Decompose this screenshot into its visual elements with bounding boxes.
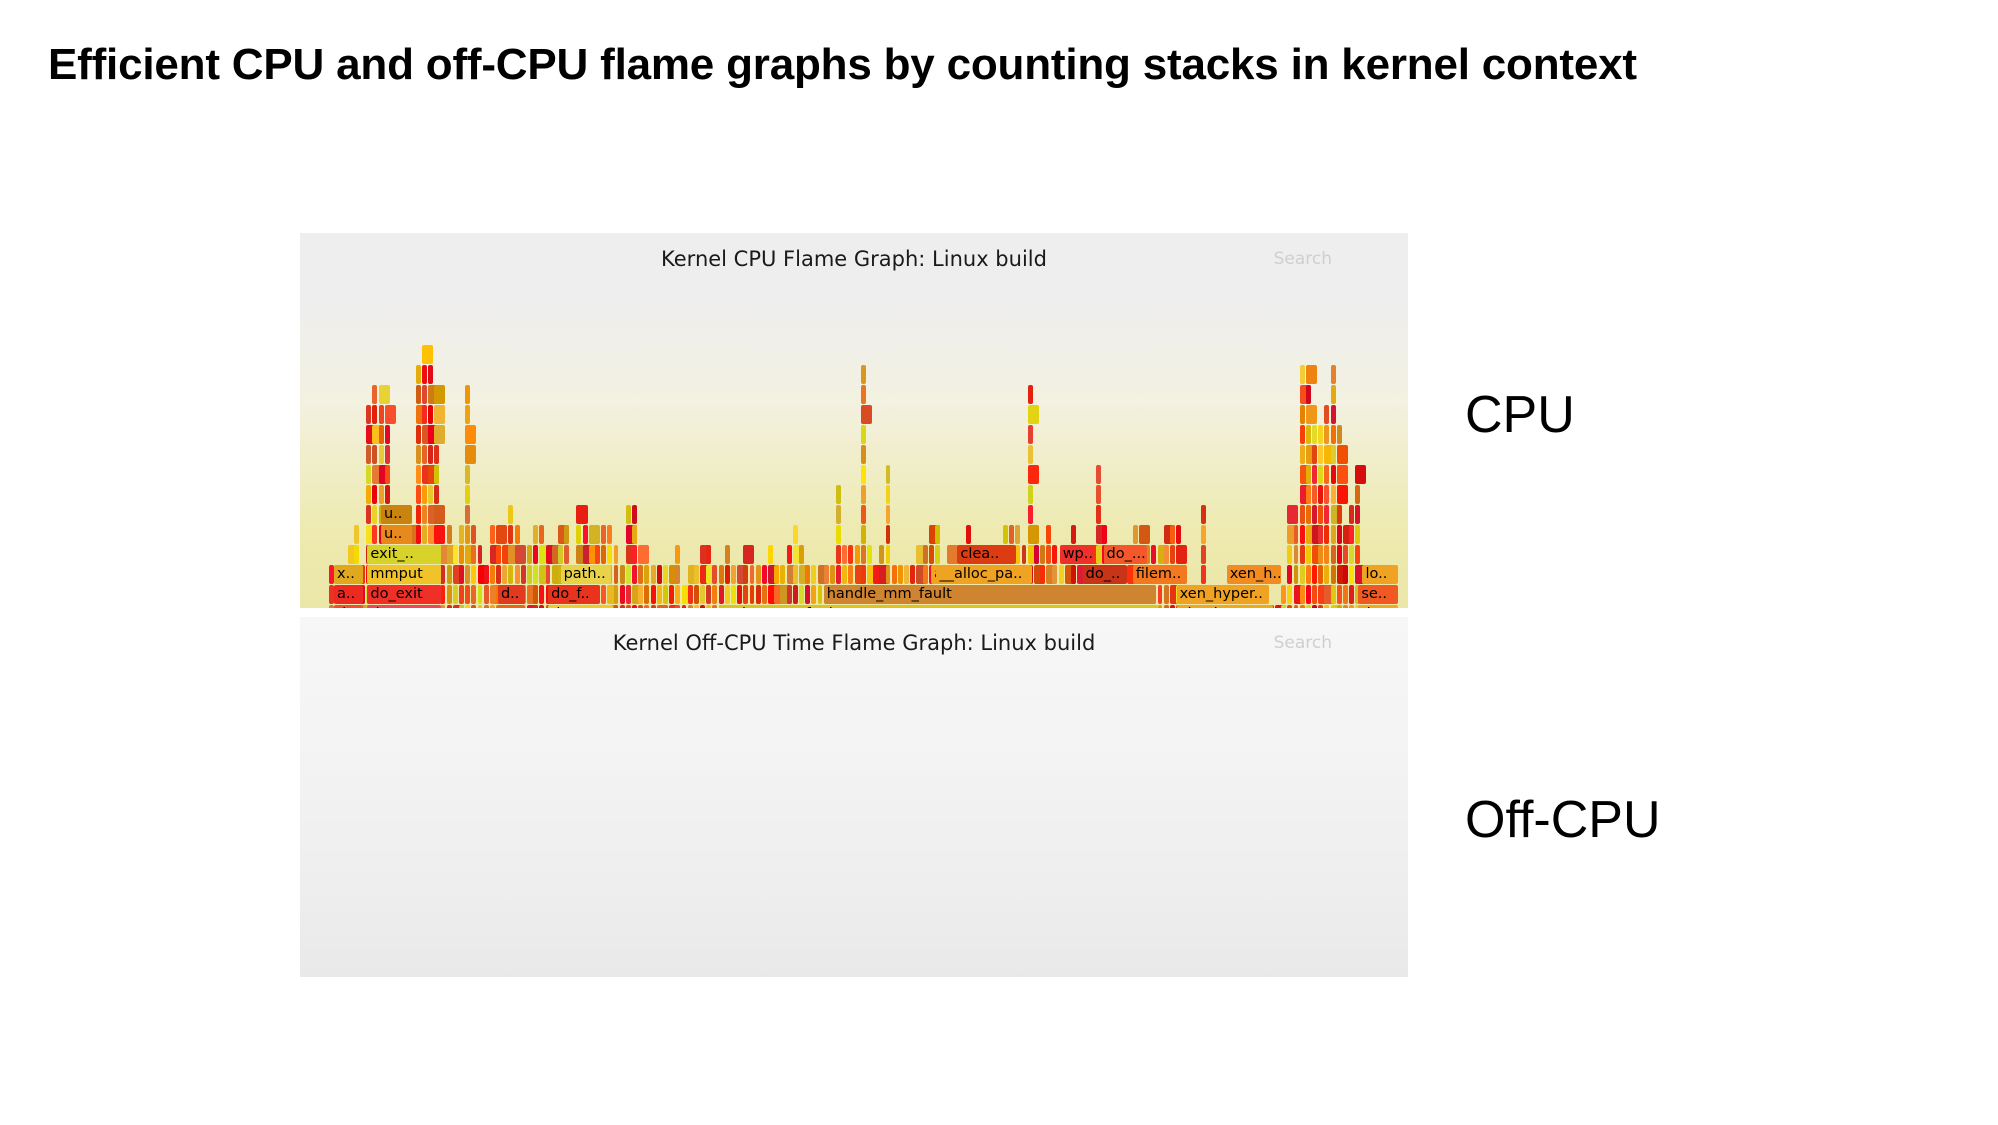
flame-frame[interactable]: [1201, 525, 1206, 544]
flame-frame[interactable]: [515, 545, 526, 564]
flame-frame[interactable]: [576, 525, 581, 544]
flame-frame[interactable]: [731, 585, 736, 604]
flame-frame[interactable]: [546, 565, 551, 584]
flame-frame[interactable]: [1028, 425, 1033, 444]
flame-frame[interactable]: [1300, 425, 1305, 444]
flame-frame[interactable]: [1318, 545, 1323, 564]
flame-frame[interactable]: [824, 565, 829, 584]
flame-frame[interactable]: [385, 485, 390, 504]
flame-frame-labeled[interactable]: do_...: [1104, 545, 1148, 564]
flame-frame-labeled[interactable]: u..: [381, 505, 412, 524]
flame-frame[interactable]: [471, 525, 476, 544]
flame-frame[interactable]: [799, 585, 804, 604]
flame-frame[interactable]: [1294, 605, 1299, 608]
flame-frame[interactable]: [861, 485, 866, 504]
flame-frame[interactable]: [910, 565, 915, 584]
flame-frame[interactable]: [515, 525, 520, 544]
flame-frame[interactable]: [898, 565, 903, 584]
flame-frame[interactable]: [706, 605, 711, 608]
flame-frame[interactable]: [1287, 505, 1298, 524]
flame-frame[interactable]: [1158, 585, 1163, 604]
flame-frame[interactable]: [886, 465, 891, 484]
flame-frame[interactable]: [459, 565, 464, 584]
flame-frame[interactable]: [886, 505, 891, 524]
flame-frame[interactable]: [1312, 605, 1317, 608]
flame-frame[interactable]: [354, 545, 359, 564]
flame-frame[interactable]: [1306, 365, 1317, 384]
flame-frame[interactable]: [861, 505, 866, 524]
flame-frame[interactable]: [632, 565, 637, 584]
flame-frame[interactable]: [706, 545, 711, 564]
flame-frame[interactable]: [1294, 525, 1299, 544]
flame-frame[interactable]: [1312, 445, 1317, 464]
flame-frame[interactable]: [712, 585, 717, 604]
flame-frame[interactable]: [1176, 545, 1187, 564]
flame-frame[interactable]: [1324, 425, 1329, 444]
flame-frame[interactable]: [638, 545, 649, 564]
flame-frame[interactable]: [440, 585, 445, 604]
flame-frame[interactable]: [1306, 565, 1311, 584]
flame-frame[interactable]: [861, 565, 866, 584]
flame-frame[interactable]: [372, 405, 377, 424]
flame-frame-labeled[interactable]: wp..: [1060, 545, 1093, 564]
flame-frame[interactable]: [471, 585, 476, 604]
flame-frame[interactable]: [935, 525, 940, 544]
flame-frame[interactable]: [1331, 565, 1336, 584]
flame-frame[interactable]: [1312, 485, 1317, 504]
flame-frame[interactable]: [447, 605, 452, 608]
flame-frame[interactable]: [1022, 545, 1027, 564]
flame-frame[interactable]: [886, 525, 891, 544]
flame-frame[interactable]: [422, 525, 427, 544]
flame-frame[interactable]: [484, 605, 489, 608]
flame-frame[interactable]: [712, 565, 717, 584]
flame-frame[interactable]: [861, 445, 866, 464]
flame-frame[interactable]: [508, 505, 513, 524]
flame-frame[interactable]: [1170, 525, 1175, 544]
flame-frame[interactable]: [682, 605, 687, 608]
flame-frame[interactable]: [836, 525, 841, 544]
flame-frame[interactable]: [855, 545, 860, 564]
flame-frame[interactable]: [805, 565, 810, 584]
flame-frame[interactable]: [1355, 545, 1360, 564]
flame-frame[interactable]: [1312, 425, 1317, 444]
flame-frame[interactable]: [799, 545, 804, 564]
flame-frame[interactable]: [1096, 485, 1101, 504]
flame-frame[interactable]: [694, 605, 699, 608]
flame-frame[interactable]: [465, 605, 470, 608]
flame-frame[interactable]: [743, 585, 748, 604]
flame-frame[interactable]: [354, 525, 359, 544]
flame-frame[interactable]: [688, 585, 693, 604]
flame-frame[interactable]: [533, 525, 538, 544]
flame-frame[interactable]: [366, 485, 371, 504]
flame-frame[interactable]: [879, 545, 884, 564]
flame-frame[interactable]: [737, 585, 742, 604]
flame-frame[interactable]: [688, 605, 693, 608]
flame-frame[interactable]: [1337, 445, 1348, 464]
flame-frame-labeled[interactable]: do_f..: [548, 585, 600, 604]
flame-frame[interactable]: [1355, 465, 1366, 484]
flame-frame-labeled[interactable]: x..: [334, 565, 363, 584]
flame-frame[interactable]: [638, 565, 643, 584]
flame-frame[interactable]: [366, 405, 371, 424]
flame-frame[interactable]: [626, 505, 631, 524]
flame-frame[interactable]: [1034, 545, 1039, 564]
flame-frame[interactable]: [842, 545, 847, 564]
flame-frame[interactable]: [651, 585, 656, 604]
flame-frame[interactable]: [811, 585, 816, 604]
flame-frame[interactable]: [1318, 485, 1323, 504]
flame-frame[interactable]: [465, 505, 470, 524]
flame-frame[interactable]: [1324, 405, 1329, 424]
flame-frame[interactable]: [886, 565, 891, 584]
flame-frame[interactable]: [1337, 485, 1348, 504]
flame-frame[interactable]: [1349, 565, 1354, 584]
flame-frame[interactable]: [861, 425, 866, 444]
flame-frame[interactable]: [416, 505, 421, 524]
flame-frame-labeled[interactable]: u..: [381, 525, 412, 544]
flame-frame[interactable]: [416, 425, 421, 444]
flame-frame[interactable]: [502, 565, 507, 584]
flame-frame[interactable]: [626, 565, 631, 584]
flame-frame[interactable]: [515, 565, 520, 584]
flame-frame[interactable]: [440, 565, 445, 584]
flame-frame[interactable]: [712, 605, 717, 608]
flame-frame[interactable]: [886, 485, 891, 504]
flame-frame[interactable]: [657, 585, 662, 604]
flame-frame[interactable]: [1046, 545, 1051, 564]
flame-frame[interactable]: [1028, 385, 1033, 404]
flame-frame[interactable]: [471, 565, 476, 584]
flame-frame[interactable]: [620, 565, 625, 584]
flame-frame[interactable]: [1331, 485, 1336, 504]
flame-frame[interactable]: [558, 545, 563, 564]
flame-frame-labeled[interactable]: do_exit: [367, 585, 440, 604]
flame-frame[interactable]: [861, 465, 866, 484]
flame-frame[interactable]: [1331, 465, 1336, 484]
flame-frame[interactable]: [768, 545, 773, 564]
flame-frame[interactable]: [632, 605, 637, 608]
flame-frame-labeled[interactable]: a..: [334, 585, 363, 604]
flame-frame[interactable]: [1349, 525, 1354, 544]
flame-frame[interactable]: [1096, 505, 1101, 524]
flame-frame[interactable]: [379, 485, 384, 504]
flame-frame[interactable]: [434, 485, 439, 504]
flame-frame[interactable]: [1331, 545, 1336, 564]
flame-frame[interactable]: [428, 445, 433, 464]
flame-frame[interactable]: [632, 545, 637, 564]
flame-frame[interactable]: [607, 545, 612, 564]
flame-frame[interactable]: [1306, 405, 1317, 424]
flame-frame[interactable]: [372, 505, 377, 524]
flame-frame[interactable]: [379, 405, 384, 424]
flame-frame[interactable]: [508, 565, 513, 584]
flame-frame[interactable]: [614, 545, 619, 564]
flame-frame[interactable]: [601, 525, 606, 544]
flame-frame[interactable]: [1306, 585, 1311, 604]
flame-frame[interactable]: [644, 605, 649, 608]
flame-frame[interactable]: [1300, 545, 1305, 564]
flame-frame[interactable]: [465, 525, 470, 544]
flame-frame[interactable]: [496, 565, 501, 584]
flame-frame-labeled[interactable]: __do_page_fault: [719, 605, 1158, 608]
flame-frame[interactable]: [651, 605, 656, 608]
flame-frame[interactable]: [1028, 485, 1033, 504]
flame-frame[interactable]: [465, 565, 470, 584]
flame-frame[interactable]: [1201, 545, 1206, 564]
flame-frame[interactable]: [1318, 525, 1323, 544]
flame-frame[interactable]: [1300, 405, 1305, 424]
flame-frame[interactable]: [1306, 465, 1311, 484]
flame-frame[interactable]: [632, 525, 637, 544]
flame-frame[interactable]: [787, 545, 792, 564]
flame-frame[interactable]: [1287, 565, 1292, 584]
flame-frame[interactable]: [447, 525, 452, 544]
flame-frame[interactable]: [1102, 525, 1107, 544]
flame-frame[interactable]: [762, 585, 767, 604]
flame-frame[interactable]: [614, 565, 619, 584]
flame-frame[interactable]: [675, 565, 680, 584]
flame-frame[interactable]: [422, 505, 427, 524]
flame-frame[interactable]: [416, 365, 421, 384]
flame-frame[interactable]: [657, 565, 662, 584]
flame-frame[interactable]: [366, 445, 371, 464]
flame-frame[interactable]: [1052, 545, 1057, 564]
flame-frame[interactable]: [836, 505, 841, 524]
flame-frame[interactable]: [1046, 525, 1051, 544]
flame-frame[interactable]: [1306, 425, 1311, 444]
offcpu-flame-graph-canvas[interactable]: schedulepipe_w..pipe_r..__vfs_..vfs_read…: [300, 617, 1408, 977]
flame-frame[interactable]: [638, 605, 643, 608]
flame-frame[interactable]: [675, 605, 680, 608]
flame-frame[interactable]: [861, 385, 866, 404]
flame-frame[interactable]: [638, 585, 643, 604]
flame-frame[interactable]: [966, 525, 971, 544]
flame-frame[interactable]: [762, 565, 767, 584]
flame-frame[interactable]: [1028, 525, 1039, 544]
flame-frame[interactable]: [1306, 485, 1311, 504]
flame-frame[interactable]: [465, 585, 470, 604]
flame-frame[interactable]: [428, 365, 433, 384]
flame-frame[interactable]: [447, 585, 452, 604]
flame-frame-labeled[interactable]: d..: [334, 605, 363, 608]
flame-frame[interactable]: [793, 565, 798, 584]
flame-frame[interactable]: [416, 485, 421, 504]
flame-frame[interactable]: [1355, 525, 1360, 544]
flame-frame[interactable]: [1300, 505, 1305, 524]
flame-frame[interactable]: [1343, 565, 1348, 584]
flame-frame[interactable]: [1312, 565, 1317, 584]
flame-frame[interactable]: [422, 345, 433, 364]
flame-frame[interactable]: [434, 445, 439, 464]
flame-frame[interactable]: [1337, 465, 1348, 484]
flame-frame[interactable]: [1281, 605, 1286, 608]
flame-frame[interactable]: [1324, 465, 1329, 484]
flame-frame-labeled[interactable]: do_..: [1083, 565, 1127, 584]
flame-frame[interactable]: [644, 565, 649, 584]
flame-frame[interactable]: [793, 525, 798, 544]
flame-frame[interactable]: [1331, 365, 1336, 384]
flame-frame[interactable]: [1139, 525, 1150, 544]
flame-frame[interactable]: [750, 565, 755, 584]
flame-frame[interactable]: [669, 585, 674, 604]
flame-frame[interactable]: [416, 465, 421, 484]
flame-frame[interactable]: [465, 385, 470, 404]
flame-frame[interactable]: [422, 365, 427, 384]
flame-frame[interactable]: [1164, 605, 1169, 608]
flame-frame[interactable]: [904, 565, 909, 584]
flame-frame[interactable]: [663, 585, 668, 604]
flame-frame[interactable]: [564, 545, 569, 564]
flame-frame-labeled[interactable]: filem..: [1133, 565, 1187, 584]
flame-frame[interactable]: [539, 525, 544, 544]
flame-frame[interactable]: [465, 425, 476, 444]
flame-frame[interactable]: [1349, 605, 1354, 608]
flame-frame[interactable]: [1028, 465, 1039, 484]
flame-frame[interactable]: [422, 485, 427, 504]
flame-frame[interactable]: [1318, 565, 1323, 584]
flame-frame[interactable]: [465, 485, 470, 504]
flame-frame[interactable]: [861, 545, 866, 564]
flame-frame-labeled[interactable]: handle_mm_fault: [824, 585, 1156, 604]
flame-frame[interactable]: [366, 505, 371, 524]
flame-frame[interactable]: [1318, 425, 1323, 444]
flame-frame[interactable]: [1164, 585, 1169, 604]
flame-frame[interactable]: [379, 385, 390, 404]
flame-frame[interactable]: [465, 445, 476, 464]
flame-frame[interactable]: [1331, 385, 1336, 404]
flame-frame[interactable]: [848, 545, 853, 564]
flame-frame[interactable]: [1096, 465, 1101, 484]
flame-frame[interactable]: [731, 565, 736, 584]
flame-frame[interactable]: [478, 605, 483, 608]
flame-frame[interactable]: [1343, 605, 1348, 608]
flame-frame[interactable]: [447, 565, 452, 584]
flame-frame[interactable]: [675, 545, 680, 564]
flame-frame[interactable]: [1009, 525, 1014, 544]
flame-frame[interactable]: [1300, 525, 1305, 544]
flame-frame-labeled[interactable]: d..: [498, 585, 525, 604]
flame-frame[interactable]: [836, 485, 841, 504]
flame-frame[interactable]: [836, 565, 841, 584]
flame-frame-labeled[interactable]: exit_..: [367, 545, 440, 564]
flame-frame[interactable]: [1324, 525, 1329, 544]
flame-frame[interactable]: [1287, 605, 1292, 608]
flame-frame[interactable]: [583, 525, 588, 544]
flame-frame[interactable]: [1071, 565, 1076, 584]
flame-frame[interactable]: [1028, 445, 1033, 464]
flame-frame[interactable]: [465, 405, 470, 424]
flame-frame[interactable]: [521, 565, 526, 584]
flame-frame-labeled[interactable]: mmput: [367, 565, 440, 584]
flame-frame[interactable]: [434, 385, 445, 404]
flame-frame[interactable]: [1300, 585, 1305, 604]
flame-frame[interactable]: [663, 565, 668, 584]
flame-frame[interactable]: [372, 385, 377, 404]
flame-frame[interactable]: [1331, 445, 1336, 464]
flame-frame[interactable]: [1015, 525, 1020, 544]
flame-frame[interactable]: [663, 605, 668, 608]
flame-frame[interactable]: [1003, 525, 1008, 544]
flame-frame[interactable]: [1158, 605, 1163, 608]
flame-frame[interactable]: [694, 565, 699, 584]
flame-frame[interactable]: [1331, 525, 1336, 544]
flame-frame[interactable]: [935, 545, 940, 564]
flame-frame[interactable]: [1331, 405, 1336, 424]
flame-frame[interactable]: [372, 485, 377, 504]
flame-frame[interactable]: [1306, 605, 1311, 608]
flame-frame[interactable]: [861, 525, 866, 544]
flame-frame[interactable]: [923, 545, 928, 564]
flame-frame[interactable]: [1355, 485, 1360, 504]
flame-frame[interactable]: [620, 585, 625, 604]
flame-frame[interactable]: [490, 605, 495, 608]
flame-frame[interactable]: [484, 565, 489, 584]
flame-frame[interactable]: [372, 525, 377, 544]
flame-frame[interactable]: [595, 545, 600, 564]
flame-frame[interactable]: [614, 605, 619, 608]
flame-frame[interactable]: [564, 525, 569, 544]
flame-frame[interactable]: [620, 605, 625, 608]
flame-frame[interactable]: [1324, 605, 1329, 608]
flame-frame[interactable]: [434, 525, 445, 544]
flame-frame[interactable]: [700, 585, 705, 604]
flame-frame[interactable]: [811, 565, 816, 584]
flame-frame[interactable]: [533, 545, 538, 564]
flame-frame[interactable]: [1040, 565, 1045, 584]
flame-frame-labeled[interactable]: v..: [498, 605, 525, 608]
flame-frame[interactable]: [379, 445, 384, 464]
flame-frame[interactable]: [478, 545, 483, 564]
flame-frame[interactable]: [1337, 605, 1342, 608]
flame-frame[interactable]: [372, 445, 377, 464]
flame-frame[interactable]: [929, 545, 934, 564]
flame-frame[interactable]: [459, 545, 464, 564]
flame-frame[interactable]: [1300, 565, 1305, 584]
flame-frame[interactable]: [756, 585, 761, 604]
flame-frame[interactable]: [1312, 505, 1317, 524]
flame-frame[interactable]: [385, 465, 390, 484]
flame-frame[interactable]: [1040, 545, 1045, 564]
flame-frame[interactable]: [830, 565, 835, 584]
flame-frame[interactable]: [1324, 545, 1329, 564]
flame-frame[interactable]: [848, 565, 853, 584]
flame-frame[interactable]: [1176, 525, 1181, 544]
flame-frame-labeled[interactable]: lo..: [1362, 565, 1398, 584]
flame-frame[interactable]: [434, 465, 439, 484]
flame-frame[interactable]: [490, 525, 495, 544]
flame-frame[interactable]: [787, 585, 792, 604]
flame-frame[interactable]: [1071, 525, 1076, 544]
flame-frame[interactable]: [743, 565, 748, 584]
flame-frame[interactable]: [725, 565, 730, 584]
flame-frame[interactable]: [867, 545, 872, 564]
flame-frame-labeled[interactable]: clea..: [957, 545, 1015, 564]
flame-frame[interactable]: [416, 445, 421, 464]
flame-frame[interactable]: [700, 605, 705, 608]
flame-frame[interactable]: [1349, 505, 1354, 524]
flame-frame[interactable]: [774, 565, 779, 584]
flame-frame[interactable]: [793, 585, 798, 604]
flame-frame[interactable]: [1331, 585, 1336, 604]
flame-frame[interactable]: [1355, 505, 1360, 524]
flame-frame[interactable]: [1306, 385, 1311, 404]
flame-frame[interactable]: [527, 545, 532, 564]
flame-frame[interactable]: [428, 485, 433, 504]
flame-frame[interactable]: [422, 445, 427, 464]
flame-frame[interactable]: [1324, 565, 1329, 584]
